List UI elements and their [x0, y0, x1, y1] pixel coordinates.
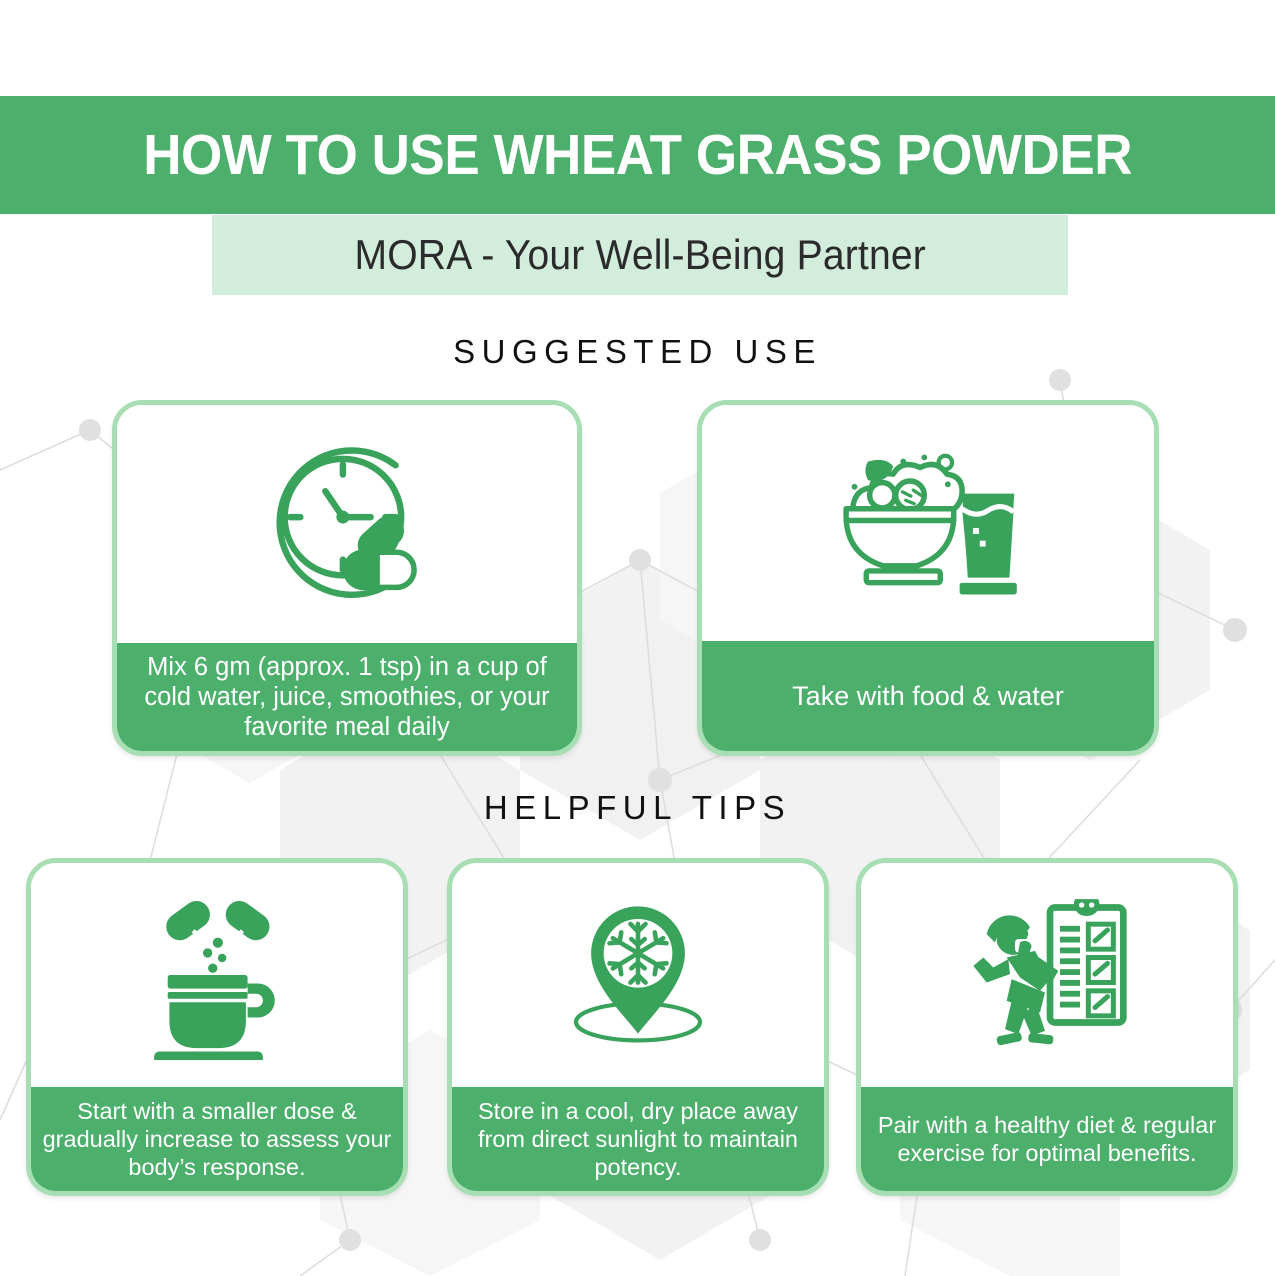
- card-caption-text: Pair with a healthy diet & regular exerc…: [871, 1111, 1223, 1167]
- card-tip-store-cool-dry: Store in a cool, dry place away from dir…: [447, 858, 829, 1196]
- clock-with-capsules-icon: [255, 432, 440, 617]
- card-caption-text: Start with a smaller dose & gradually in…: [41, 1097, 393, 1182]
- card-icon-area: [117, 405, 577, 643]
- card-caption: Start with a smaller dose & gradually in…: [31, 1087, 403, 1191]
- header-band: HOW TO USE WHEAT GRASS POWDER: [0, 96, 1275, 214]
- infographic-page: HOW TO USE WHEAT GRASS POWDER MORA - You…: [0, 0, 1275, 1276]
- card-icon-area: [452, 863, 824, 1087]
- card-caption-text: Take with food & water: [712, 680, 1144, 713]
- section-heading-helpful-tips: HELPFUL TIPS: [0, 789, 1275, 827]
- card-caption: Take with food & water: [702, 641, 1154, 751]
- card-caption: Store in a cool, dry place away from dir…: [452, 1087, 824, 1191]
- card-icon-area: [861, 863, 1233, 1087]
- snowflake-location-pin-icon: [553, 898, 723, 1053]
- card-caption-text: Store in a cool, dry place away from dir…: [462, 1097, 814, 1182]
- card-icon-area: [31, 863, 403, 1087]
- card-suggested-use-food-water: Take with food & water: [697, 400, 1159, 756]
- card-caption-text: Mix 6 gm (approx. 1 tsp) in a cup of col…: [127, 652, 567, 742]
- card-tip-start-smaller-dose: Start with a smaller dose & gradually in…: [26, 858, 408, 1196]
- brand-subtitle: MORA - Your Well-Being Partner: [354, 231, 925, 279]
- subtitle-band: MORA - Your Well-Being Partner: [212, 215, 1068, 295]
- card-tip-healthy-diet-exercise: Pair with a healthy diet & regular exerc…: [856, 858, 1238, 1196]
- section-heading-suggested-use: SUGGESTED USE: [0, 333, 1275, 371]
- running-person-with-checklist-icon: [960, 895, 1135, 1055]
- card-suggested-use-mix: Mix 6 gm (approx. 1 tsp) in a cup of col…: [112, 400, 582, 756]
- card-caption: Mix 6 gm (approx. 1 tsp) in a cup of col…: [117, 643, 577, 751]
- capsule-pouring-into-cup-icon: [132, 890, 302, 1060]
- salad-bowl-and-glass-of-water-icon: [836, 443, 1021, 603]
- card-icon-area: [702, 405, 1154, 641]
- page-title: HOW TO USE WHEAT GRASS POWDER: [143, 127, 1132, 184]
- card-caption: Pair with a healthy diet & regular exerc…: [861, 1087, 1233, 1191]
